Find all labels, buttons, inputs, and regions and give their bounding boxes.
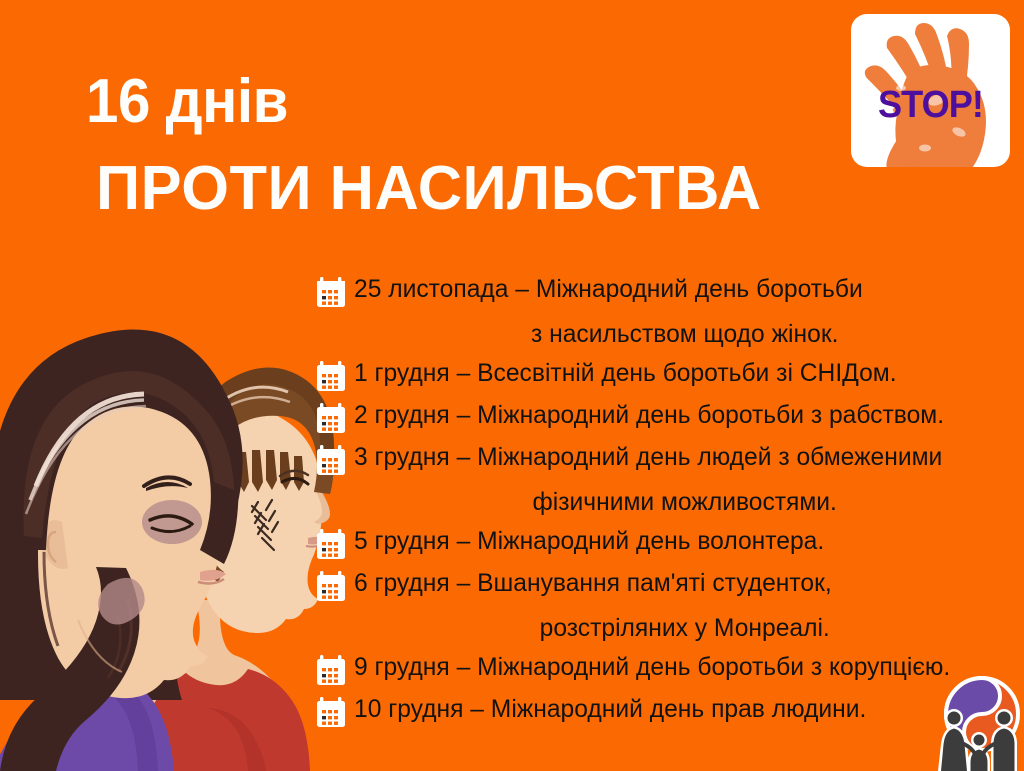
- calendar-icon: [316, 571, 346, 602]
- title-line-1: 16 днів: [86, 70, 838, 134]
- list-item-text: 9 грудня – Міжнародний день боротьби з к…: [354, 652, 950, 682]
- calendar-icon: [316, 361, 346, 392]
- list-item: 2 грудня – Міжнародний день боротьби з р…: [316, 400, 1016, 440]
- list-item-continuation: з насильством щодо жінок.: [321, 319, 1011, 349]
- list-item-continuation: фізичними можливостями.: [321, 487, 1011, 517]
- calendar-icon: [316, 529, 346, 560]
- list-item: 25 листопада – Міжнародний день боротьби…: [316, 274, 1016, 349]
- list-item-continuation: розстріляних у Монреалі.: [321, 613, 1011, 643]
- list-item: 5 грудня – Міжнародний день волонтера.: [316, 526, 1016, 566]
- dates-list: 25 листопада – Міжнародний день боротьби…: [316, 274, 1016, 736]
- calendar-icon: [316, 403, 346, 434]
- list-item-text: 2 грудня – Міжнародний день боротьби з р…: [354, 400, 944, 430]
- title-line-2: ПРОТИ НАСИЛЬСТВА: [96, 156, 878, 222]
- two-women-illustration: [0, 300, 340, 771]
- list-item-text: 3 грудня – Міжнародний день людей з обме…: [354, 442, 942, 472]
- list-item: 6 грудня – Вшанування пам'яті студенток,…: [316, 568, 1016, 643]
- calendar-icon: [316, 655, 346, 686]
- stop-badge: STOP!: [851, 14, 1010, 167]
- family-logo: [928, 672, 1024, 771]
- poster-canvas: 16 днів ПРОТИ НАСИЛЬСТВА: [0, 0, 1024, 771]
- calendar-icon: [316, 277, 346, 308]
- list-item-text: 1 грудня – Всесвітній день боротьби зі С…: [354, 358, 897, 388]
- list-item: 1 грудня – Всесвітній день боротьби зі С…: [316, 358, 1016, 398]
- eye-bruise: [142, 500, 202, 544]
- list-item: 10 грудня – Міжнародний день прав людини…: [316, 694, 1016, 734]
- list-item: 9 грудня – Міжнародний день боротьби з к…: [316, 652, 1016, 692]
- list-item-text: 5 грудня – Міжнародний день волонтера.: [354, 526, 824, 556]
- calendar-icon: [316, 445, 346, 476]
- list-item: 3 грудня – Міжнародний день людей з обме…: [316, 442, 1016, 517]
- page-title: 16 днів ПРОТИ НАСИЛЬСТВА: [86, 70, 886, 222]
- list-item-text: 25 листопада – Міжнародний день боротьби: [354, 274, 863, 304]
- stop-label: STOP!: [855, 84, 1006, 127]
- list-item-text: 10 грудня – Міжнародний день прав людини…: [354, 694, 866, 724]
- calendar-icon: [316, 697, 346, 728]
- list-item-text: 6 грудня – Вшанування пам'яті студенток,: [354, 568, 832, 598]
